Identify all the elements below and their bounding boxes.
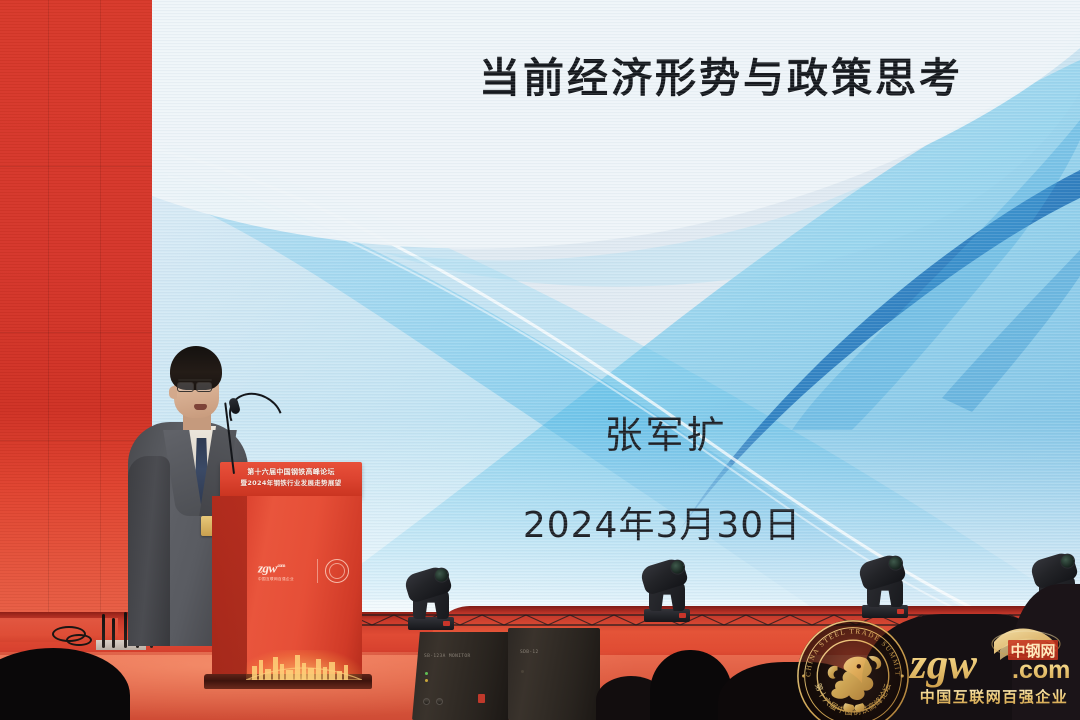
- zgw-wordmark: zgw.com: [258, 560, 310, 574]
- light-base: [644, 609, 690, 622]
- light-indicator-led: [443, 621, 450, 626]
- podium: 第十六届中国钢铁高峰论坛 暨2024年钢铁行业发展走势展望 zgw.com 中国…: [212, 462, 362, 694]
- summit-seal-icon: [325, 559, 349, 583]
- coiled-cable: [66, 634, 92, 646]
- podium-cityscape-graphic: [246, 650, 362, 680]
- stage-monitor-speaker: SB-123A MONITOR: [412, 632, 510, 720]
- summit-seal-watermark: CHINA STEEL TRADE SUMMIT 第十六届中国钢铁高峰论坛: [795, 618, 911, 720]
- antenna-rod: [112, 618, 115, 648]
- eyeglasses-lens-right: [196, 382, 212, 392]
- monitor-power-button[interactable]: [478, 694, 485, 703]
- light-indicator-led: [897, 609, 904, 614]
- moving-head-light: [858, 554, 912, 618]
- monitor-model-label: SDB-12: [520, 650, 539, 655]
- ear: [169, 386, 177, 399]
- eyebrows: [178, 379, 212, 381]
- slide-speaker-name: 张军扩: [152, 404, 1080, 459]
- moving-head-light: [640, 558, 694, 622]
- podium-logo-group: zgw.com 中国互联网百强企业: [258, 552, 354, 590]
- monitor-knob[interactable]: [436, 698, 443, 705]
- zgw-word-text: zgw: [258, 561, 277, 576]
- slide-title: 当前经济形势与政策思考: [152, 44, 1080, 104]
- antenna-rod: [102, 614, 105, 648]
- zgw-tagline: 中国互联网百强企业: [258, 577, 310, 582]
- zgw-tld-text: .com: [1012, 656, 1070, 684]
- light-lens: [1058, 552, 1077, 571]
- zgw-logo: zgw.com 中国互联网百强企业: [258, 560, 310, 581]
- light-base: [408, 617, 454, 630]
- eyeglasses-lens-left: [177, 382, 194, 392]
- light-lens: [668, 558, 687, 577]
- light-lens: [432, 566, 451, 585]
- stage-monitor-speaker: SDB-12: [508, 628, 600, 720]
- moving-head-light: [404, 566, 458, 630]
- light-lens: [886, 554, 905, 573]
- conference-stage-photo: 当前经济形势与政策思考 张军扩 2024年3月30日: [0, 0, 1080, 720]
- podium-header-panel: 第十六届中国钢铁高峰论坛 暨2024年钢铁行业发展走势展望: [220, 462, 362, 498]
- zgw-wordmark-text: zgw: [908, 641, 977, 688]
- monitor-power-led: [521, 670, 524, 673]
- zgw-cn-text: 中钢网: [1010, 642, 1055, 660]
- podium-banner-line1: 第十六届中国钢铁高峰论坛: [220, 467, 362, 478]
- logo-divider: [317, 559, 318, 583]
- monitor-power-led: [425, 672, 428, 675]
- mouth: [194, 404, 207, 410]
- podium-banner-line2: 暨2024年钢铁行业发展走势展望: [220, 478, 362, 489]
- zgw-tld-text: .com: [277, 564, 285, 569]
- zgw-watermark-logo: zgw .com 中钢网 中国互联网百强企业: [908, 620, 1080, 710]
- zgw-tagline-text: 中国互联网百强企业: [920, 688, 1069, 706]
- monitor-signal-led: [425, 679, 428, 682]
- monitor-model-label: SB-123A MONITOR: [424, 654, 471, 659]
- podium-side-panel: [212, 496, 247, 678]
- antenna-rod: [124, 612, 127, 648]
- monitor-knob[interactable]: [423, 698, 430, 705]
- podium-banner-text: 第十六届中国钢铁高峰论坛 暨2024年钢铁行业发展走势展望: [220, 467, 362, 489]
- light-base: [862, 605, 908, 618]
- light-indicator-led: [679, 613, 686, 618]
- jacket-arm: [128, 456, 170, 646]
